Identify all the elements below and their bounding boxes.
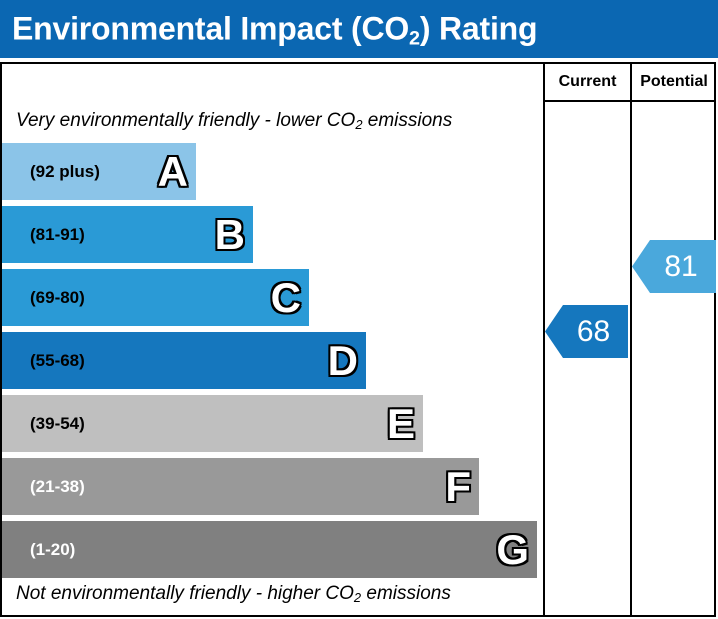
band-letter-e: E: [387, 403, 415, 445]
band-range-c: (69-80): [30, 288, 85, 308]
band-letter-b: B: [215, 214, 245, 256]
band-bar-c: (69-80) C: [2, 269, 309, 326]
current-rating-value: 68: [563, 317, 624, 347]
column-divider-current: [543, 64, 545, 615]
band-range-g: (1-20): [30, 540, 75, 560]
caption-top-subscript: 2: [355, 117, 362, 132]
page-title-subscript: 2: [409, 27, 420, 49]
caption-bottom: Not environmentally friendly - higher CO…: [16, 583, 536, 605]
band-letter-d: D: [328, 340, 358, 382]
band-bar-a: (92 plus) A: [2, 143, 196, 200]
chart-title-bar: Environmental Impact (CO2) Rating: [0, 0, 718, 58]
band-bar-g: (1-20) G: [2, 521, 537, 578]
potential-rating-arrow: 81: [632, 240, 716, 293]
band-bar-b: (81-91) B: [2, 206, 253, 263]
caption-top: Very environmentally friendly - lower CO…: [16, 110, 536, 132]
caption-top-suffix: emissions: [363, 110, 453, 131]
caption-top-prefix: Very environmentally friendly - lower CO: [16, 110, 355, 131]
caption-bottom-subscript: 2: [354, 590, 361, 605]
potential-rating-value: 81: [650, 252, 712, 282]
band-range-e: (39-54): [30, 414, 85, 434]
band-letter-c: C: [271, 277, 301, 319]
page-title: Environmental Impact (CO2) Rating: [12, 11, 537, 48]
band-letter-g: G: [496, 529, 529, 571]
page-title-suffix: ) Rating: [420, 11, 538, 47]
band-range-d: (55-68): [30, 351, 85, 371]
environmental-impact-rating-chart: Environmental Impact (CO2) Rating Curren…: [0, 0, 718, 619]
column-header-potential: Potential: [632, 64, 716, 100]
header-row-rule: [543, 100, 716, 102]
caption-bottom-suffix: emissions: [361, 583, 451, 604]
band-letter-a: A: [158, 151, 188, 193]
band-letter-f: F: [445, 466, 471, 508]
band-range-f: (21-38): [30, 477, 85, 497]
column-divider-potential: [630, 64, 632, 615]
band-chart-area: Very environmentally friendly - lower CO…: [2, 100, 543, 615]
rating-table: Current Potential Very environmentally f…: [0, 62, 716, 617]
current-rating-arrow: 68: [545, 305, 628, 358]
page-title-prefix: Environmental Impact (CO: [12, 11, 409, 47]
band-range-b: (81-91): [30, 225, 85, 245]
caption-bottom-prefix: Not environmentally friendly - higher CO: [16, 583, 354, 604]
band-bar-e: (39-54) E: [2, 395, 423, 452]
band-bar-f: (21-38) F: [2, 458, 479, 515]
column-header-current: Current: [545, 64, 630, 100]
band-range-a: (92 plus): [30, 162, 100, 182]
band-bar-d: (55-68) D: [2, 332, 366, 389]
